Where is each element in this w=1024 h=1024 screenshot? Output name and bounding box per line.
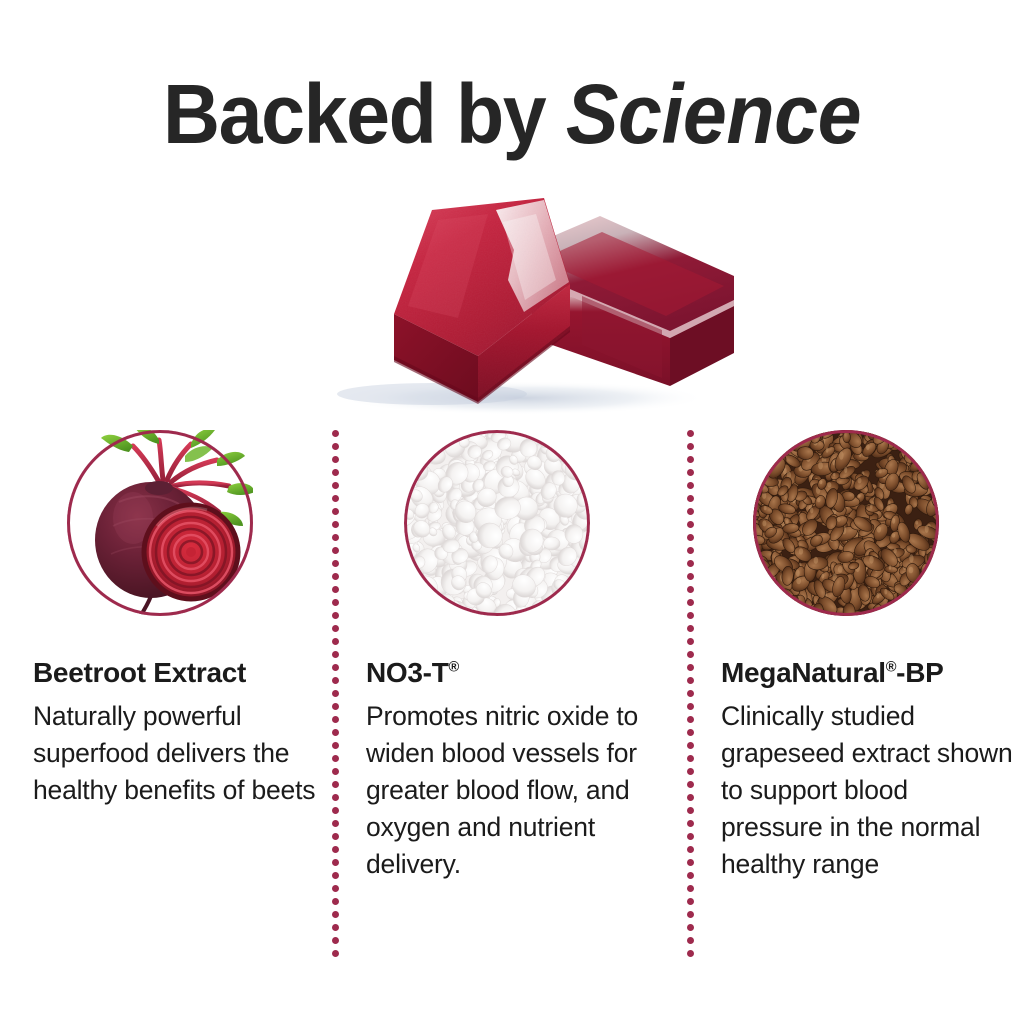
hero-product-image [282, 188, 742, 420]
ingredient-body-no3t: Promotes nitric oxide to widen blood ves… [366, 698, 666, 883]
ingredient-body-meganatural: Clinically studied grapeseed extract sho… [721, 698, 1013, 883]
grapeseed-image [753, 430, 939, 616]
no3t-granules-image [404, 430, 590, 616]
registered-mark: ® [449, 660, 459, 676]
ingredient-heading-beetroot: Beetroot Extract [33, 657, 246, 689]
heading-text: Beetroot Extract [33, 657, 246, 688]
beetroot-image [67, 430, 253, 616]
front-gummy-block [394, 198, 570, 404]
ingredient-heading-no3t: NO3-T® [366, 657, 459, 689]
ingredient-column-meganatural: MegaNatural®-BP Clinically studied grape… [721, 430, 1021, 616]
ingredient-column-no3t: NO3-T® Promotes nitric oxide to widen bl… [366, 430, 666, 616]
nitrate-granules-illustration [404, 430, 590, 616]
registered-mark: ® [886, 660, 896, 676]
heading-suffix: -BP [896, 657, 943, 688]
beet-gummy-blocks-illustration [282, 188, 742, 420]
page-title: Backed by Science [31, 66, 994, 163]
grapeseed-illustration [753, 430, 939, 616]
heading-text: NO3-T [366, 657, 449, 688]
ingredient-body-beetroot: Naturally powerful superfood delivers th… [33, 698, 333, 809]
ingredient-columns: Beetroot Extract Naturally powerful supe… [0, 430, 1024, 970]
page-title-italic: Science [566, 67, 861, 161]
ingredient-heading-meganatural: MegaNatural®-BP [721, 657, 944, 689]
ingredient-column-beetroot: Beetroot Extract Naturally powerful supe… [33, 430, 333, 616]
halved-beet [144, 505, 238, 599]
page-title-plain: Backed by [163, 67, 566, 161]
heading-text: MegaNatural [721, 657, 886, 688]
beetroot-illustration [67, 430, 253, 616]
